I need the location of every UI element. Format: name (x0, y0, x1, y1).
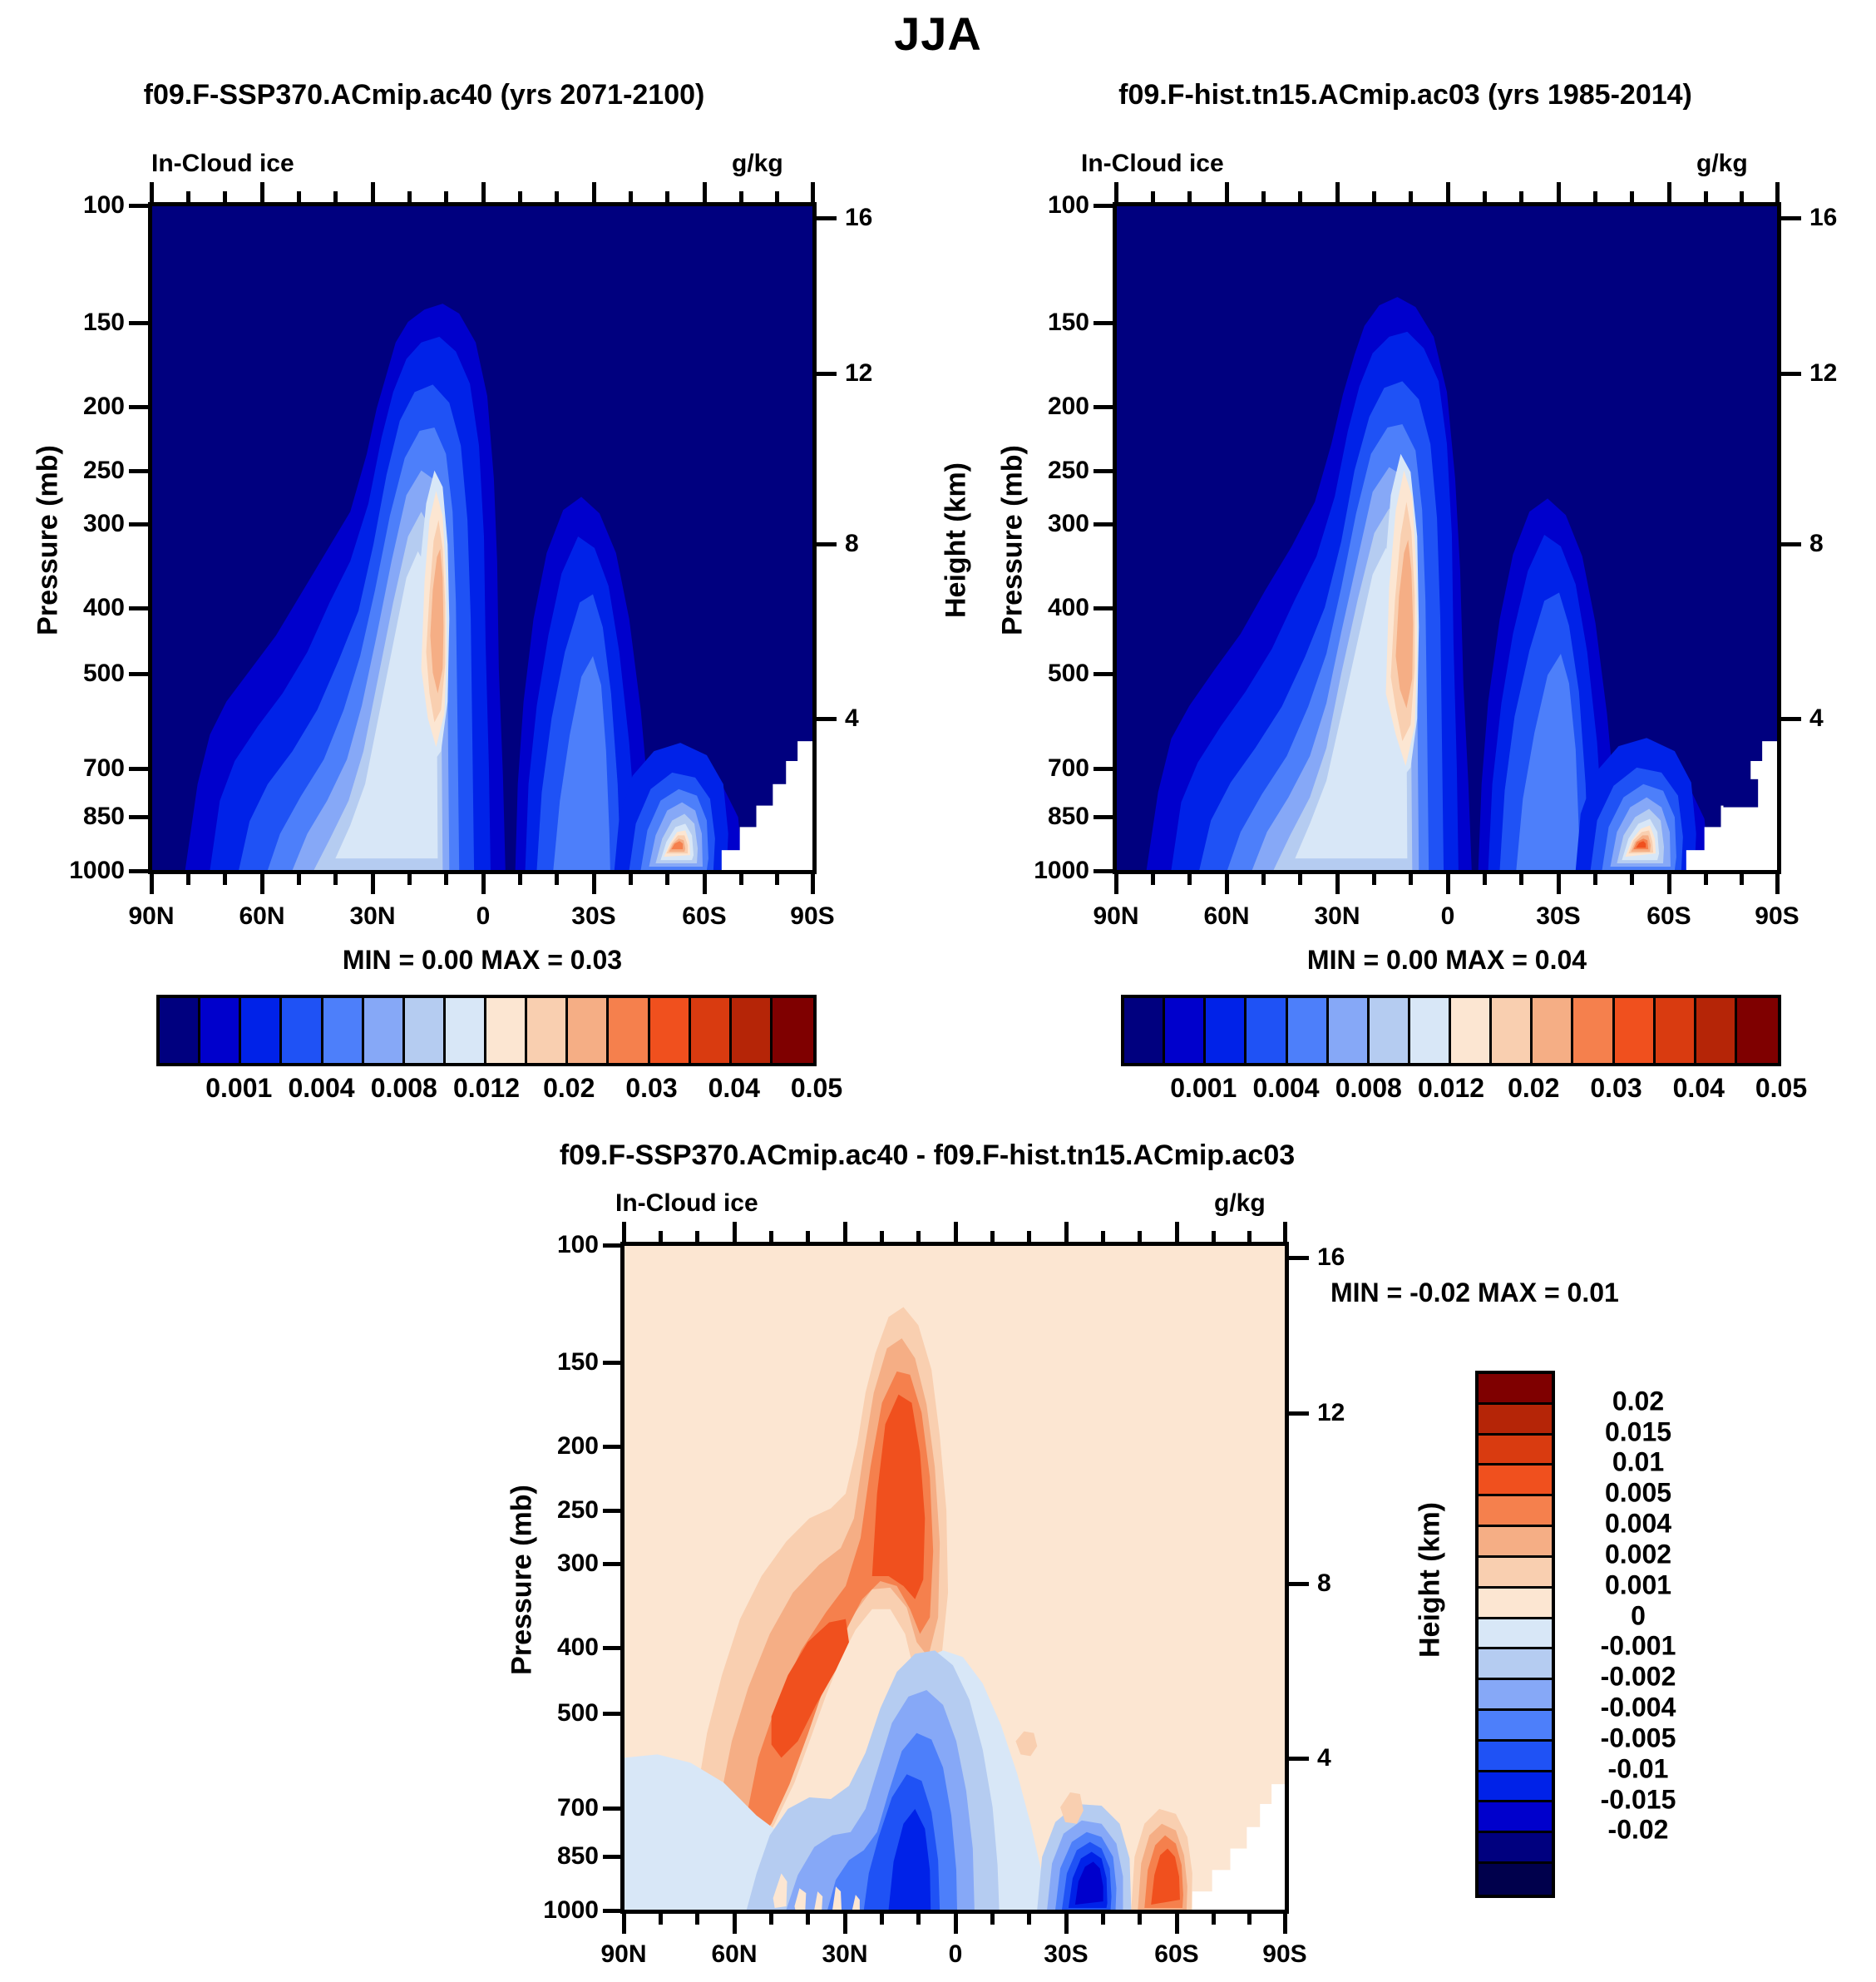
xtick-label: 0 (476, 902, 491, 931)
colorbar-tick-label: 0.008 (371, 1073, 437, 1104)
ytick-label: 200 (83, 393, 125, 421)
panel-right-variable-label: In-Cloud ice (1081, 150, 1224, 178)
colorbar-cell[interactable] (1479, 1558, 1552, 1589)
xtick-label: 0 (1441, 902, 1455, 931)
xtick-label: 60N (239, 902, 284, 931)
xtick-label: 90N (128, 902, 174, 931)
ytick-label: 1000 (69, 857, 125, 885)
xtick-label: 90S (1755, 902, 1799, 931)
colorbar-tick-label: 0.02 (543, 1073, 595, 1104)
ytick-label: 200 (557, 1432, 599, 1461)
colorbar-cell[interactable] (1479, 1864, 1552, 1895)
xtick-label: 60N (711, 1940, 757, 1969)
colorbar-tick-label: 0 (1563, 1600, 1713, 1631)
colorbar-cell[interactable] (1370, 998, 1410, 1063)
colorbar-tick-label: 0.05 (1755, 1073, 1807, 1104)
xtick-label: 90S (790, 902, 834, 931)
panel-right-plot (1113, 202, 1781, 874)
colorbar-cell[interactable] (1451, 998, 1492, 1063)
colorbar-cell[interactable] (405, 998, 446, 1063)
colorbar-cell[interactable] (282, 998, 323, 1063)
colorbar-tick-label: 0.004 (288, 1073, 354, 1104)
colorbar-cell[interactable] (1410, 998, 1451, 1063)
colorbar-cell[interactable] (691, 998, 732, 1063)
colorbar-tick-label: -0.015 (1563, 1784, 1713, 1815)
colorbar-tick-label: 0.004 (1252, 1073, 1319, 1104)
ytick-label: 400 (557, 1634, 599, 1662)
colorbar-tick-label: 0.05 (791, 1073, 842, 1104)
colorbar-cell[interactable] (1573, 998, 1614, 1063)
ytick-label: 300 (1048, 510, 1089, 538)
colorbar-cell[interactable] (1329, 998, 1370, 1063)
colorbar-tick-label: -0.002 (1563, 1662, 1713, 1693)
y2tick-label: 12 (1317, 1399, 1345, 1427)
colorbar-tick-label: 0.04 (708, 1073, 760, 1104)
ytick-label: 150 (83, 309, 125, 337)
ytick-label: 400 (83, 594, 125, 622)
ytick-label: 100 (1048, 191, 1089, 220)
colorbar-cell[interactable] (773, 998, 813, 1063)
panel-right-minmax: MIN = 0.00 MAX = 0.04 (1114, 945, 1780, 976)
ytick-label: 1000 (543, 1896, 599, 1925)
colorbar-tick-label: 0.03 (625, 1073, 677, 1104)
colorbar-tick-label: 0.03 (1590, 1073, 1641, 1104)
panel-diff-contour (625, 1246, 1285, 1910)
colorbar-cell[interactable] (1479, 1527, 1552, 1558)
panel-right-colorbar[interactable] (1121, 995, 1781, 1066)
colorbar-tick-label: 0.015 (1563, 1416, 1713, 1447)
xtick-label: 30N (349, 902, 395, 931)
colorbar-tick-label: 0.012 (453, 1073, 520, 1104)
y2tick-label: 16 (1809, 204, 1837, 232)
panel-left-plot (148, 202, 817, 874)
panel-diff-y2label: Height (km) (1414, 1456, 1447, 1705)
colorbar-cell[interactable] (527, 998, 568, 1063)
ytick-label: 250 (557, 1496, 599, 1525)
colorbar-tick-label: 0.001 (205, 1073, 272, 1104)
xtick-label: 90N (600, 1940, 646, 1969)
colorbar-tick-label: 0.012 (1418, 1073, 1484, 1104)
colorbar-tick-label: 0.02 (1508, 1073, 1559, 1104)
colorbar-cell[interactable] (1479, 1405, 1552, 1436)
panel-left-title: f09.F-SSP370.ACmip.ac40 (yrs 2071-2100) (50, 79, 798, 111)
panel-right-units-label: g/kg (1696, 150, 1748, 178)
xtick-label: 60S (1646, 902, 1691, 931)
colorbar-cell[interactable] (486, 998, 527, 1063)
ytick-label: 150 (557, 1348, 599, 1377)
y2tick-label: 4 (1317, 1744, 1331, 1772)
panel-left-y2label: Height (km) (940, 416, 973, 665)
ytick-label: 850 (557, 1842, 599, 1871)
colorbar-cell[interactable] (160, 998, 200, 1063)
xtick-label: 30S (1044, 1940, 1088, 1969)
panel-left-minmax: MIN = 0.00 MAX = 0.03 (150, 945, 815, 976)
y2tick-label: 8 (1809, 530, 1824, 558)
xtick-label: 30S (571, 902, 615, 931)
ytick-label: 1000 (1034, 857, 1089, 885)
panel-diff-plot (620, 1242, 1289, 1914)
colorbar-cell[interactable] (323, 998, 364, 1063)
colorbar-cell[interactable] (1492, 998, 1533, 1063)
y2tick-label: 16 (845, 204, 872, 232)
colorbar-cell[interactable] (1247, 998, 1287, 1063)
colorbar-cell[interactable] (1479, 1802, 1552, 1833)
colorbar-tick-label: 0.002 (1563, 1539, 1713, 1569)
colorbar-cell[interactable] (1479, 1496, 1552, 1527)
xtick-label: 30N (1314, 902, 1360, 931)
ytick-label: 250 (83, 457, 125, 485)
colorbar-cell[interactable] (1615, 998, 1656, 1063)
xtick-label: 60S (682, 902, 726, 931)
panel-right-colorbar-labels: 0.0010.0040.0080.0120.020.030.040.05 (1121, 1073, 1775, 1106)
panel-diff-ylabel: Pressure (mb) (506, 1456, 539, 1705)
colorbar-cell[interactable] (1696, 998, 1737, 1063)
colorbar-tick-label: -0.005 (1563, 1723, 1713, 1753)
y2tick-label: 12 (1809, 359, 1837, 388)
colorbar-cell[interactable] (364, 998, 405, 1063)
xtick-label: 60N (1203, 902, 1249, 931)
ytick-label: 400 (1048, 594, 1089, 622)
colorbar-cell[interactable] (1165, 998, 1206, 1063)
y2tick-label: 4 (845, 704, 859, 733)
colorbar-tick-label: 0.005 (1563, 1478, 1713, 1509)
ytick-label: 700 (557, 1794, 599, 1822)
colorbar-cell[interactable] (1479, 1649, 1552, 1680)
ytick-label: 300 (83, 510, 125, 538)
colorbar-tick-label: 0.01 (1563, 1447, 1713, 1478)
colorbar-tick-label: 0.04 (1673, 1073, 1725, 1104)
y2tick-label: 4 (1809, 704, 1824, 733)
panel-left-variable-label: In-Cloud ice (151, 150, 294, 178)
colorbar-cell[interactable] (1737, 998, 1778, 1063)
colorbar-cell[interactable] (446, 998, 486, 1063)
panel-diff-minmax: MIN = -0.02 MAX = 0.01 (1330, 1278, 1846, 1308)
panel-diff-units-label: g/kg (1214, 1189, 1266, 1218)
ytick-label: 500 (83, 660, 125, 688)
xtick-label: 90S (1262, 1940, 1306, 1969)
colorbar-cell[interactable] (650, 998, 691, 1063)
ytick-label: 300 (557, 1550, 599, 1578)
colorbar-cell[interactable] (1479, 1619, 1552, 1650)
colorbar-cell[interactable] (1479, 1742, 1552, 1772)
colorbar-cell[interactable] (1479, 1436, 1552, 1466)
colorbar-cell[interactable] (241, 998, 282, 1063)
y2tick-label: 16 (1317, 1243, 1345, 1272)
colorbar-tick-label: 0.008 (1335, 1073, 1402, 1104)
colorbar-cell[interactable] (1533, 998, 1573, 1063)
colorbar-cell[interactable] (200, 998, 241, 1063)
panel-right-ylabel: Pressure (mb) (997, 416, 1029, 665)
y2tick-label: 8 (845, 530, 859, 558)
colorbar-cell[interactable] (1124, 998, 1165, 1063)
colorbar-tick-label: 0.02 (1563, 1386, 1713, 1416)
ytick-label: 500 (557, 1699, 599, 1727)
ytick-label: 500 (1048, 660, 1089, 688)
panel-diff-variable-label: In-Cloud ice (615, 1189, 758, 1218)
colorbar-tick-label: 0.001 (1170, 1073, 1237, 1104)
panel-left-contour (152, 206, 812, 870)
colorbar-cell[interactable] (1206, 998, 1247, 1063)
colorbar-cell[interactable] (1479, 1772, 1552, 1803)
ytick-label: 100 (83, 191, 125, 220)
colorbar-cell[interactable] (732, 998, 773, 1063)
panel-diff-colorbar-labels: 0.020.0150.010.0050.0040.0020.0010-0.001… (1563, 1371, 1730, 1891)
colorbar-cell[interactable] (1479, 1589, 1552, 1619)
ytick-label: 100 (557, 1231, 599, 1259)
colorbar-cell[interactable] (1479, 1465, 1552, 1496)
xtick-label: 90N (1093, 902, 1138, 931)
panel-right-title: f09.F-hist.tn15.ACmip.ac03 (yrs 1985-201… (981, 79, 1829, 111)
panel-left-colorbar-labels: 0.0010.0040.0080.0120.020.030.040.05 (156, 1073, 810, 1106)
xtick-label: 0 (949, 1940, 963, 1969)
ytick-label: 850 (1048, 803, 1089, 831)
colorbar-cell[interactable] (1479, 1833, 1552, 1864)
xtick-label: 30N (822, 1940, 867, 1969)
ytick-label: 250 (1048, 457, 1089, 485)
y2tick-label: 12 (845, 359, 872, 388)
panel-diff-title: f09.F-SSP370.ACmip.ac40 - f09.F-hist.tn1… (324, 1139, 1530, 1172)
colorbar-tick-label: -0.001 (1563, 1631, 1713, 1662)
xtick-label: 30S (1536, 902, 1580, 931)
figure-suptitle: JJA (0, 7, 1876, 61)
colorbar-cell[interactable] (1656, 998, 1696, 1063)
panel-right-contour (1117, 206, 1777, 870)
colorbar-cell[interactable] (1479, 1680, 1552, 1711)
colorbar-cell[interactable] (609, 998, 649, 1063)
ytick-label: 200 (1048, 393, 1089, 421)
panel-left-colorbar[interactable] (156, 995, 817, 1066)
ytick-label: 700 (83, 754, 125, 783)
colorbar-tick-label: -0.02 (1563, 1815, 1713, 1846)
figure-root: JJA f09.F-SSP370.ACmip.ac40 (yrs 2071-21… (0, 0, 1876, 1982)
colorbar-cell[interactable] (568, 998, 609, 1063)
panel-left-units-label: g/kg (732, 150, 783, 178)
colorbar-cell[interactable] (1479, 1711, 1552, 1742)
ytick-label: 150 (1048, 309, 1089, 337)
panel-diff-colorbar[interactable] (1475, 1371, 1555, 1898)
colorbar-tick-label: 0.004 (1563, 1509, 1713, 1540)
xtick-label: 60S (1154, 1940, 1198, 1969)
ytick-label: 850 (83, 803, 125, 831)
colorbar-cell[interactable] (1479, 1374, 1552, 1405)
colorbar-tick-label: 0.001 (1563, 1569, 1713, 1600)
ytick-label: 700 (1048, 754, 1089, 783)
colorbar-tick-label: -0.01 (1563, 1753, 1713, 1784)
colorbar-cell[interactable] (1288, 998, 1329, 1063)
y2tick-label: 8 (1317, 1569, 1331, 1598)
colorbar-tick-label: -0.004 (1563, 1693, 1713, 1723)
panel-left-ylabel: Pressure (mb) (32, 416, 65, 665)
